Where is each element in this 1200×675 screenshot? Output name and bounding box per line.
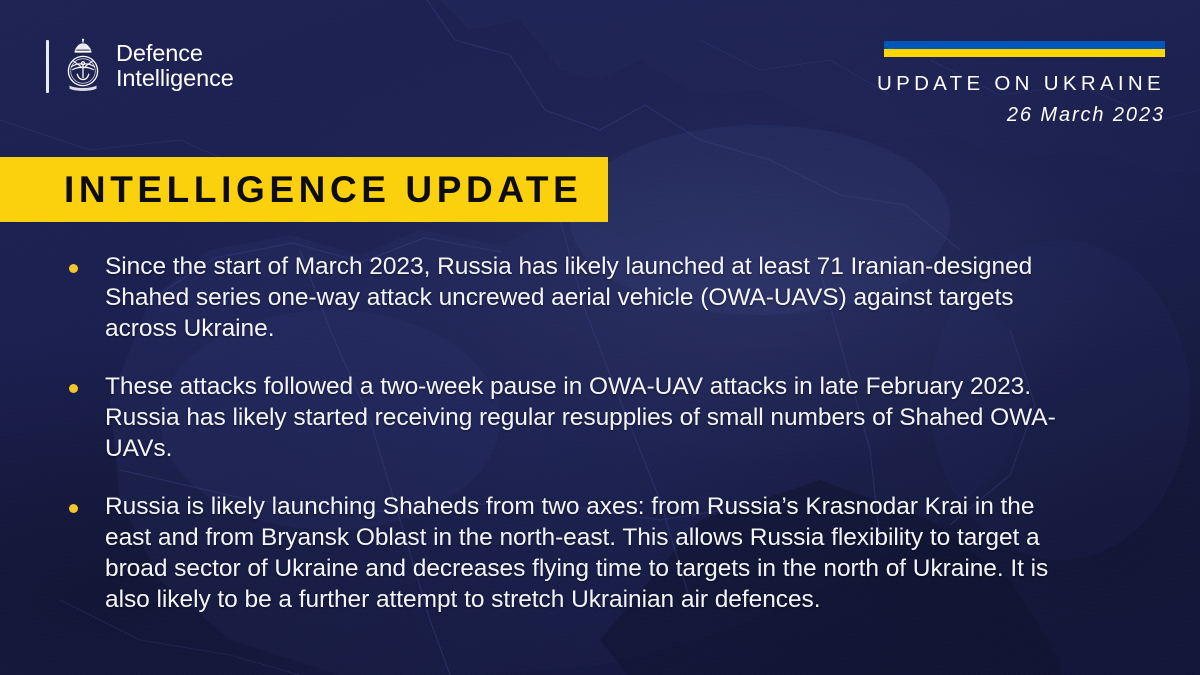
logo-line-defence: Defence — [116, 41, 234, 66]
intelligence-update-poster: Defence Intelligence UPDATE ON UKRAINE 2… — [0, 0, 1200, 675]
header-meta: UPDATE ON UKRAINE 26 March 2023 — [705, 72, 1165, 127]
vertical-rule-icon — [46, 40, 49, 93]
bullet-dot-icon — [69, 384, 78, 393]
banner-label: INTELLIGENCE UPDATE — [0, 171, 582, 208]
list-item: Russia is likely launching Shaheds from … — [66, 492, 1086, 616]
bullet-text: Since the start of March 2023, Russia ha… — [105, 252, 1086, 345]
flag-stripe-yellow — [884, 49, 1165, 57]
bullet-dot-icon — [69, 504, 78, 513]
bullet-dot-icon — [69, 264, 78, 273]
royal-crown-crest-icon — [60, 38, 106, 94]
intelligence-update-banner: INTELLIGENCE UPDATE — [0, 157, 608, 222]
ukraine-flag-bar — [884, 41, 1165, 57]
defence-intelligence-logo: Defence Intelligence — [46, 38, 234, 94]
flag-stripe-blue — [884, 41, 1165, 49]
header-title: UPDATE ON UKRAINE — [705, 72, 1165, 97]
list-item: Since the start of March 2023, Russia ha… — [66, 252, 1086, 345]
bullet-text: These attacks followed a two-week pause … — [105, 372, 1086, 465]
bullet-list: Since the start of March 2023, Russia ha… — [66, 252, 1086, 616]
header-date: 26 March 2023 — [705, 103, 1165, 127]
list-item: These attacks followed a two-week pause … — [66, 372, 1086, 465]
logo-line-intelligence: Intelligence — [116, 66, 234, 91]
bullet-text: Russia is likely launching Shaheds from … — [105, 492, 1086, 616]
